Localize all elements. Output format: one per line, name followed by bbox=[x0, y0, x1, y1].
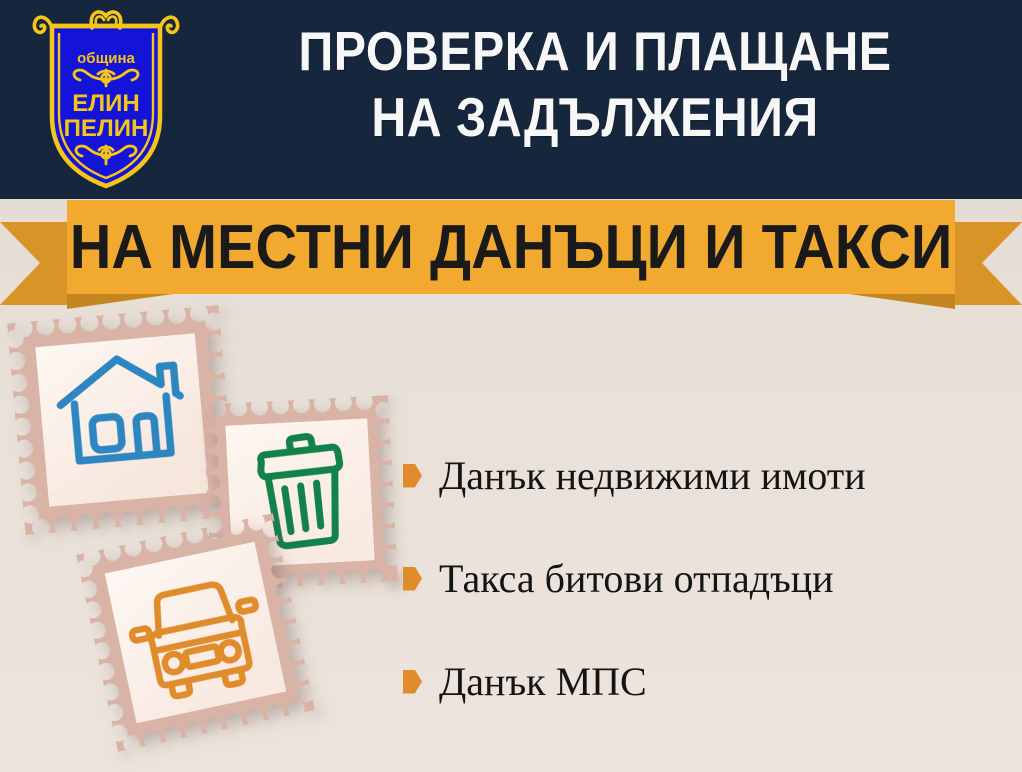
poster-canvas: ПРОВЕРКА И ПЛАЩАНЕ НА ЗАДЪЛЖЕНИЯ община bbox=[0, 0, 1022, 772]
vehicle-stamp bbox=[74, 511, 317, 754]
crest-label-top: община bbox=[77, 50, 135, 67]
crest-label-line-2: ПЕЛИН bbox=[64, 115, 149, 142]
list-item-label: Данък МПС bbox=[439, 662, 647, 702]
page-title: ПРОВЕРКА И ПЛАЩАНЕ НА ЗАДЪЛЖЕНИЯ bbox=[234, 18, 956, 150]
list-item-label: Данък недвижими имоти bbox=[439, 456, 866, 496]
ribbon-label: НА МЕСТНИ ДАНЪЦИ И ТАКСИ bbox=[98, 200, 924, 294]
arrow-bullet-icon bbox=[403, 567, 422, 591]
tax-type-list: Данък недвижими имоти Такса битови отпад… bbox=[403, 424, 1013, 733]
list-item[interactable]: Данък МПС bbox=[403, 630, 1013, 733]
list-item[interactable]: Такса битови отпадъци bbox=[403, 527, 1013, 630]
page-title-line-1: ПРОВЕРКА И ПЛАЩАНЕ bbox=[234, 18, 956, 84]
arrow-bullet-icon bbox=[403, 670, 422, 694]
list-item[interactable]: Данък недвижими имоти bbox=[403, 424, 1013, 527]
list-item-label: Такса битови отпадъци bbox=[439, 559, 834, 599]
page-title-line-2: НА ЗАДЪЛЖЕНИЯ bbox=[234, 84, 956, 150]
ribbon-fold-left bbox=[67, 293, 180, 309]
ribbon-fold-right bbox=[842, 293, 955, 309]
municipality-crest-logo: община ЕЛИН ПЕЛИН bbox=[30, 8, 182, 193]
crest-label-line-1: ЕЛИН bbox=[72, 90, 139, 117]
arrow-bullet-icon bbox=[403, 464, 422, 488]
